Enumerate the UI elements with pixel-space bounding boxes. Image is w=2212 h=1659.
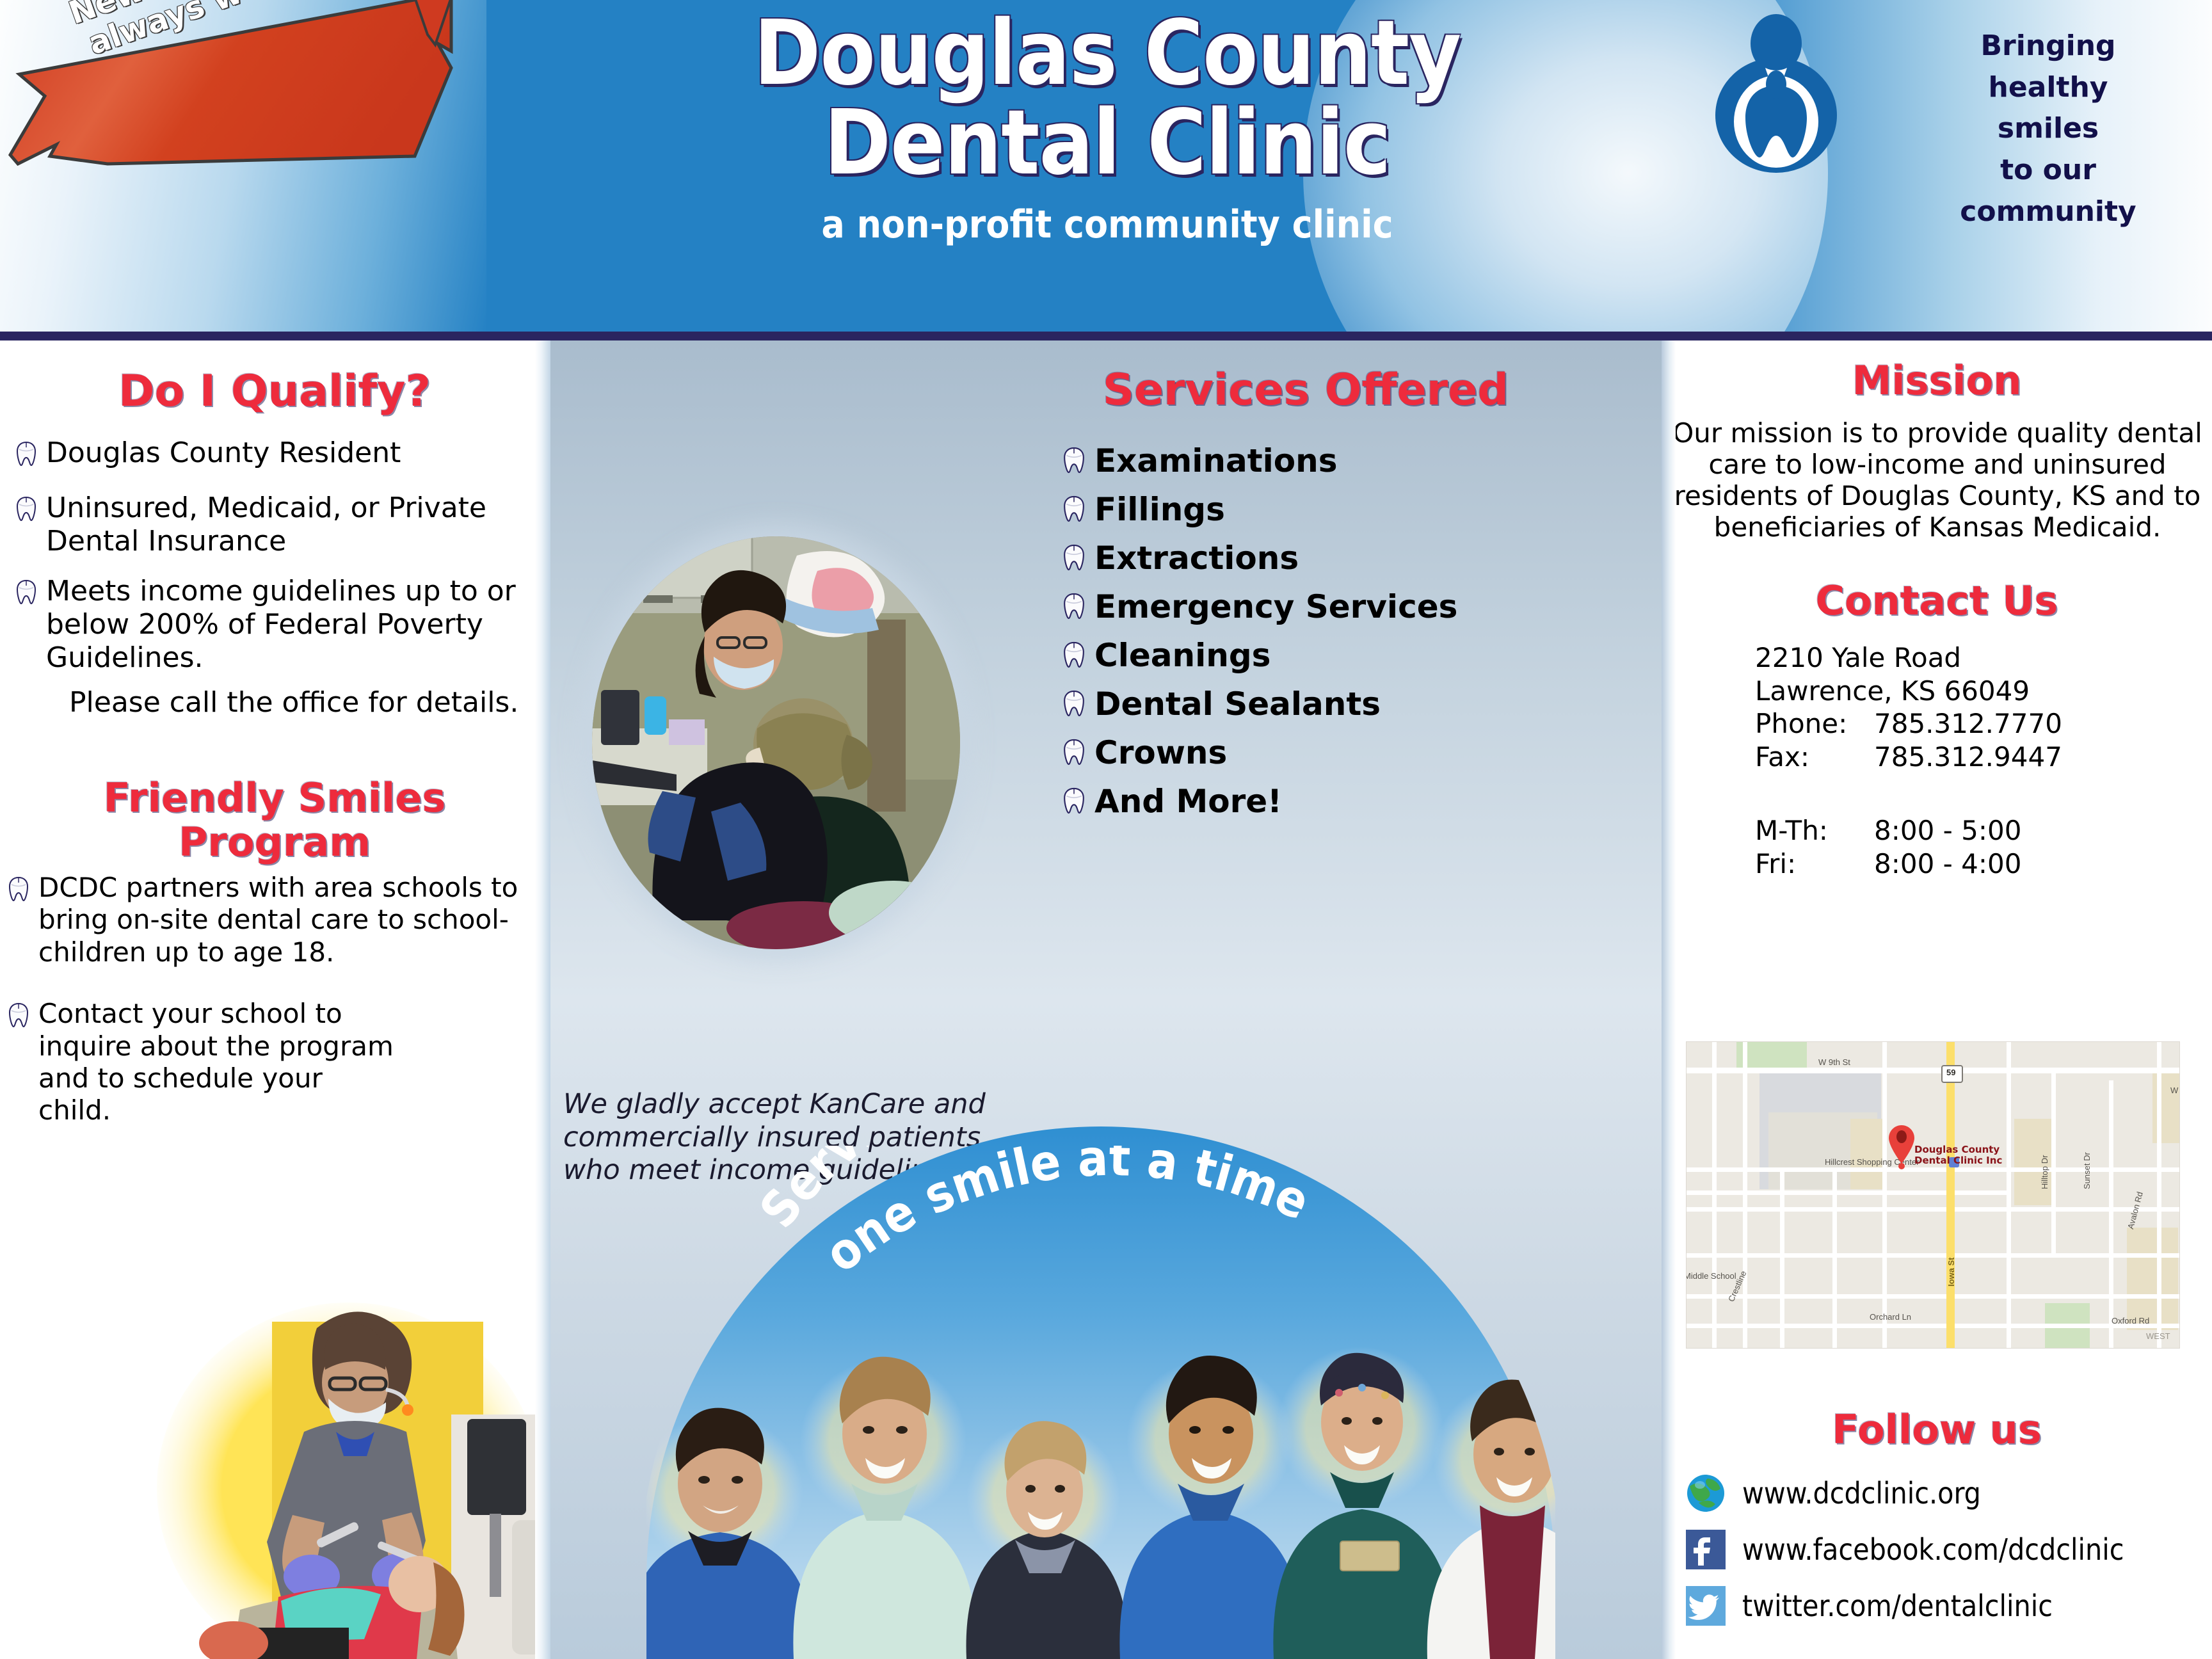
clinic-treatment-photo xyxy=(592,536,960,949)
follow-heading: Follow us xyxy=(1662,1406,2212,1453)
tagline-line-1: Bringing xyxy=(1914,26,2183,67)
map-block xyxy=(1850,1119,1882,1189)
map-label: Iowa St xyxy=(1946,1257,1956,1286)
map-pin-label: Douglas County Dental Clinic Inc xyxy=(1914,1144,2002,1167)
right-column-edge xyxy=(1662,341,1676,1659)
map-label: W 9th St xyxy=(1818,1057,1850,1067)
tagline-line-2: healthy xyxy=(1914,67,2183,109)
follow-link-facebook-text: www.facebook.com/dcdclinic xyxy=(1742,1532,2124,1567)
tagline-line-5: community xyxy=(1914,191,2183,233)
mission-text: Our mission is to provide quality dental… xyxy=(1671,417,2204,543)
map-pin-icon xyxy=(1887,1124,1916,1170)
service-item-text: Dental Sealants xyxy=(1094,688,1381,720)
contact-phone-value[interactable]: 785.312.7770 xyxy=(1874,707,2062,741)
twitter-icon xyxy=(1686,1586,1726,1626)
map-label: W xyxy=(2170,1086,2178,1095)
clinic-title-line-1: Douglas County xyxy=(563,9,1651,99)
tooth-bullet-icon xyxy=(1062,445,1086,480)
service-item-text: Crowns xyxy=(1094,737,1227,769)
tooth-bullet-icon xyxy=(15,440,37,475)
brochure-page: New Patients are always welcome Douglas … xyxy=(0,0,2212,1659)
service-item-text: Examinations xyxy=(1094,445,1337,477)
service-item: Extractions xyxy=(1062,539,1651,577)
mission-heading: Mission xyxy=(1662,357,2212,404)
service-item: And More! xyxy=(1062,782,1651,821)
service-item: Cleanings xyxy=(1062,636,1651,675)
follow-link-website[interactable]: www.dcdclinic.org xyxy=(1686,1473,2211,1513)
service-item-text: And More! xyxy=(1094,785,1282,817)
clinic-subtitle: a non-profit community clinic xyxy=(563,202,1651,247)
contact-heading: Contact Us xyxy=(1662,577,2212,624)
office-hours: M-Th: 8:00 - 5:00 Fri: 8:00 - 4:00 xyxy=(1755,814,2203,880)
service-item: Examinations xyxy=(1062,442,1651,480)
hours-weekdays-label: M-Th: xyxy=(1755,814,1874,847)
services-heading: Services Offered xyxy=(1024,365,1587,415)
map-block xyxy=(2127,1228,2178,1330)
friendly-smiles-list: DCDC partners with area schools to bring… xyxy=(8,872,520,1144)
map-label: 59 xyxy=(1946,1068,1955,1077)
contact-details: 2210 Yale Road Lawrence, KS 66049 Phone:… xyxy=(1755,641,2203,774)
map-label: Orchard Ln xyxy=(1870,1312,1911,1322)
facebook-icon xyxy=(1686,1530,1726,1569)
map-road-avalon xyxy=(2109,1080,2113,1348)
follow-link-twitter-text: twitter.com/dentalclinic xyxy=(1742,1589,2053,1623)
map-road-w9th xyxy=(1687,1068,2179,1073)
follow-link-facebook[interactable]: www.facebook.com/dcdclinic xyxy=(1686,1530,2211,1569)
friendly-smiles-heading: Friendly Smiles Program xyxy=(0,776,549,865)
contact-phone-label: Phone: xyxy=(1755,707,1874,741)
services-list: Examinations Fillings Extractions Emerge… xyxy=(1062,442,1651,831)
tagline-line-3: smiles xyxy=(1914,108,2183,150)
new-patients-ribbon: New Patients are always welcome xyxy=(5,0,453,169)
map-road xyxy=(1687,1253,2179,1258)
service-item: Crowns xyxy=(1062,733,1651,772)
hours-weekdays-value: 8:00 - 5:00 xyxy=(1874,814,2022,847)
team-photo xyxy=(550,1280,1662,1659)
tooth-bullet-icon xyxy=(15,579,37,613)
map-road-hilltop xyxy=(2007,1042,2011,1348)
service-item: Fillings xyxy=(1062,490,1651,529)
header-banner: New Patients are always welcome Douglas … xyxy=(0,0,2212,338)
map-label: Oxford Rd xyxy=(2112,1316,2149,1326)
friendly-smiles-heading-line-2: Program xyxy=(0,820,549,864)
header-divider-rule xyxy=(0,332,2212,341)
friendly-smiles-item: DCDC partners with area schools to bring… xyxy=(8,872,520,968)
qualify-note: Please call the office for details. xyxy=(69,686,530,720)
map-road xyxy=(1687,1294,2179,1299)
tagline-line-4: to our xyxy=(1914,150,2183,191)
hours-friday-value: 8:00 - 4:00 xyxy=(1874,847,2022,881)
map-road xyxy=(2157,1042,2161,1348)
map-road-orchard xyxy=(1687,1324,2179,1328)
map-pin-label-line-2: Dental Clinic Inc xyxy=(1914,1155,2002,1166)
contact-fax-label: Fax: xyxy=(1755,741,1874,774)
clinic-title-block: Douglas County Dental Clinic a non-profi… xyxy=(563,9,1651,247)
map-road xyxy=(1743,1042,1747,1348)
qualify-item: Uninsured, Medicaid, or Private Dental I… xyxy=(15,492,534,558)
follow-link-twitter[interactable]: twitter.com/dentalclinic xyxy=(1686,1586,2211,1626)
map-label: WEST xyxy=(2146,1331,2170,1341)
service-item: Dental Sealants xyxy=(1062,685,1651,723)
tooth-bullet-icon xyxy=(8,876,29,910)
tooth-bullet-icon xyxy=(1062,689,1086,723)
follow-links: www.dcdclinic.org www.facebook.com/dcdcl… xyxy=(1686,1473,2211,1642)
right-column: Mission Our mission is to provide qualit… xyxy=(1662,341,2212,1659)
map-label: Sunset Dr xyxy=(2082,1152,2092,1189)
service-item-text: Extractions xyxy=(1094,542,1299,574)
service-item-text: Cleanings xyxy=(1094,639,1270,671)
child-treatment-photo xyxy=(144,1251,550,1659)
follow-link-website-text: www.dcdclinic.org xyxy=(1742,1476,1981,1511)
map-road xyxy=(1687,1167,2179,1172)
location-map[interactable]: W 9th St 59 Hillcrest Shopping Center Mi… xyxy=(1686,1041,2180,1349)
map-road xyxy=(1832,1167,1837,1348)
person-tooth-logo-icon xyxy=(1696,14,1856,174)
map-road xyxy=(1712,1042,1717,1348)
tooth-bullet-icon xyxy=(1062,640,1086,675)
map-label: Middle School xyxy=(1686,1271,1736,1281)
friendly-smiles-item-text: Contact your school to inquire about the… xyxy=(38,998,397,1127)
left-column-edge xyxy=(535,341,550,1659)
map-road xyxy=(1687,1207,2179,1212)
map-road xyxy=(1780,1167,1784,1348)
contact-address-line-2: Lawrence, KS 66049 xyxy=(1755,675,2203,708)
map-road-sunset xyxy=(2051,1068,2056,1253)
contact-address-line-1: 2210 Yale Road xyxy=(1755,641,2203,675)
tooth-bullet-icon xyxy=(1062,591,1086,626)
qualify-item: Meets income guidelines up to or below 2… xyxy=(15,575,534,675)
map-pin-label-line-1: Douglas County xyxy=(1914,1144,2002,1155)
globe-icon xyxy=(1686,1473,1726,1513)
qualify-item-text: Uninsured, Medicaid, or Private Dental I… xyxy=(46,492,534,558)
contact-phone-row: Phone: 785.312.7770 xyxy=(1755,707,2203,741)
qualify-list: Douglas County Resident Uninsured, Medic… xyxy=(15,437,534,691)
map-road xyxy=(1687,1190,2007,1195)
tooth-bullet-icon xyxy=(1062,494,1086,529)
tooth-bullet-icon xyxy=(1062,543,1086,577)
friendly-smiles-heading-line-1: Friendly Smiles xyxy=(0,776,549,820)
qualify-item-text: Douglas County Resident xyxy=(46,437,401,470)
contact-fax-row: Fax: 785.312.9447 xyxy=(1755,741,2203,774)
tagline: Bringing healthy smiles to our community xyxy=(1914,26,2183,232)
qualify-item-text: Meets income guidelines up to or below 2… xyxy=(46,575,534,675)
friendly-smiles-item-text: DCDC partners with area schools to bring… xyxy=(38,872,520,968)
service-item: Emergency Services xyxy=(1062,588,1651,626)
map-label: Hilltop Dr xyxy=(2040,1155,2049,1189)
tooth-bullet-icon xyxy=(1062,737,1086,772)
map-road xyxy=(1882,1042,1887,1348)
clinic-title-line-2: Dental Clinic xyxy=(563,99,1651,188)
map-highway-iowa-st xyxy=(1946,1042,1955,1348)
service-item-text: Fillings xyxy=(1094,493,1225,525)
friendly-smiles-item: Contact your school to inquire about the… xyxy=(8,998,520,1127)
tooth-bullet-icon xyxy=(15,495,37,530)
qualify-item: Douglas County Resident xyxy=(15,437,534,475)
qualify-heading: Do I Qualify? xyxy=(0,366,549,417)
service-item-text: Emergency Services xyxy=(1094,591,1457,623)
tooth-bullet-icon xyxy=(8,1002,29,1036)
contact-fax-value: 785.312.9447 xyxy=(1874,741,2062,774)
hours-friday-label: Fri: xyxy=(1755,847,1874,881)
hours-row-friday: Fri: 8:00 - 4:00 xyxy=(1755,847,2203,881)
hours-row-weekdays: M-Th: 8:00 - 5:00 xyxy=(1755,814,2203,847)
tooth-bullet-icon xyxy=(1062,786,1086,821)
